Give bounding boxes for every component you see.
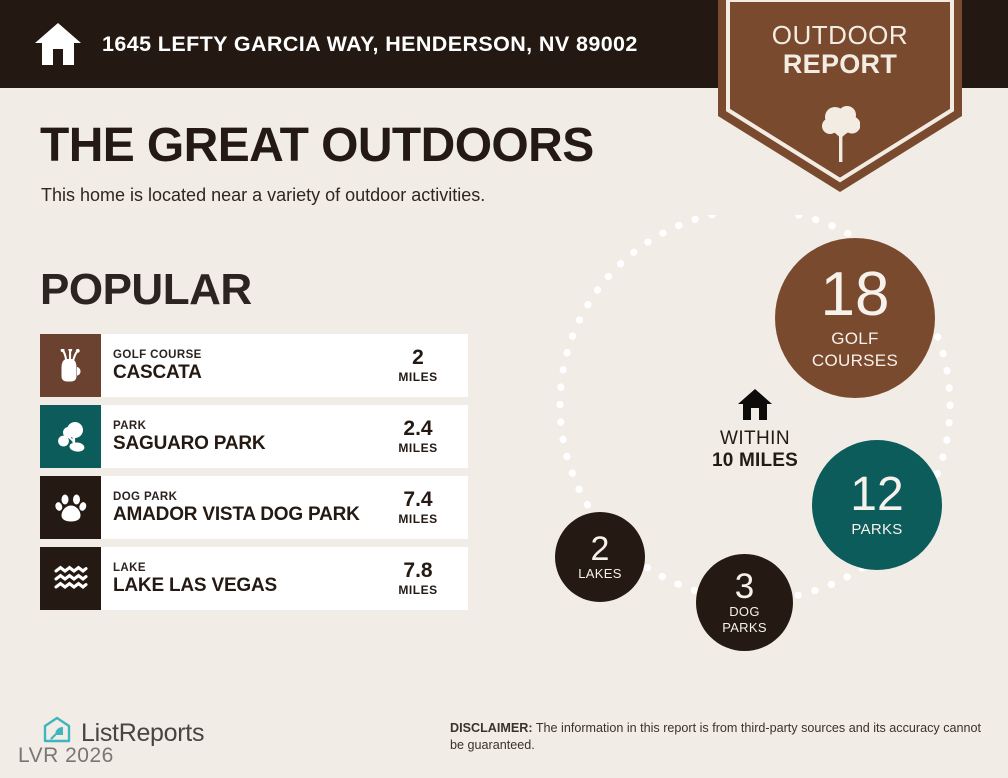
- distance-value: 2: [412, 347, 424, 369]
- list-item-distance: 2.4 MILES: [376, 405, 468, 468]
- bubble-label-line1: GOLF: [831, 330, 879, 348]
- bubble-lakes: 2 LAKES: [555, 512, 645, 602]
- list-item-name: SAGUARO PARK: [113, 433, 376, 454]
- popular-list: GOLF COURSE CASCATA 2 MILES: [40, 334, 468, 618]
- page-title: THE GREAT OUTDOORS: [40, 118, 594, 173]
- diagram-center: WITHIN 10 MILES: [660, 388, 850, 472]
- bubble-label-line2: COURSES: [812, 352, 898, 370]
- waves-icon: [40, 547, 101, 610]
- list-item-category: GOLF COURSE: [113, 348, 376, 362]
- distance-unit: MILES: [398, 583, 437, 597]
- outdoor-report-badge: OUTDOOR REPORT: [718, 0, 962, 192]
- disclaimer-label: DISCLAIMER:: [450, 721, 533, 735]
- distance-unit: MILES: [398, 370, 437, 384]
- bubble-count: 3: [735, 570, 754, 603]
- watermark: LVR 2026: [18, 744, 114, 768]
- home-icon: [660, 388, 850, 422]
- list-item-category: DOG PARK: [113, 490, 376, 504]
- distance-value: 7.4: [403, 489, 432, 511]
- outdoor-report-page: 1645 LEFTY GARCIA WAY, HENDERSON, NV 890…: [0, 0, 1008, 778]
- list-item[interactable]: GOLF COURSE CASCATA 2 MILES: [40, 334, 468, 397]
- list-item-distance: 7.4 MILES: [376, 476, 468, 539]
- list-item-text: GOLF COURSE CASCATA: [101, 334, 376, 397]
- bubble-label-line1: DOG: [729, 605, 760, 619]
- trees-icon: [40, 405, 101, 468]
- list-item-text: PARK SAGUARO PARK: [101, 405, 376, 468]
- bubble-count: 12: [850, 472, 903, 518]
- distance-unit: MILES: [398, 512, 437, 526]
- distance-value: 2.4: [403, 418, 432, 440]
- bubble-label: PARKS: [851, 522, 902, 538]
- list-item-text: DOG PARK AMADOR VISTA DOG PARK: [101, 476, 376, 539]
- center-label-line1: WITHIN: [660, 428, 850, 450]
- disclaimer: DISCLAIMER: The information in this repo…: [450, 720, 995, 753]
- tree-icon: [822, 102, 860, 164]
- list-item-distance: 2 MILES: [376, 334, 468, 397]
- section-title-popular: POPULAR: [40, 265, 252, 315]
- distance-value: 7.8: [403, 560, 432, 582]
- list-item[interactable]: DOG PARK AMADOR VISTA DOG PARK 7.4 MILES: [40, 476, 468, 539]
- bubble-count: 18: [821, 266, 890, 325]
- paw-icon: [40, 476, 101, 539]
- center-label-line2: 10 MILES: [660, 450, 850, 472]
- bubble-dog-parks: 3 DOG PARKS: [696, 554, 793, 651]
- list-item-name: LAKE LAS VEGAS: [113, 575, 376, 596]
- within-10-miles-diagram: 18 GOLF COURSES 12 PARKS 2 LAKES 3 DOG P…: [505, 215, 1005, 685]
- golf-bag-icon: [40, 334, 101, 397]
- home-icon: [34, 21, 82, 67]
- bubble-label-line2: PARKS: [722, 621, 767, 635]
- list-item[interactable]: PARK SAGUARO PARK 2.4 MILES: [40, 405, 468, 468]
- bubble-golf-courses: 18 GOLF COURSES: [775, 238, 935, 398]
- list-item-category: PARK: [113, 419, 376, 433]
- property-address: 1645 LEFTY GARCIA WAY, HENDERSON, NV 890…: [102, 32, 638, 57]
- list-item-distance: 7.8 MILES: [376, 547, 468, 610]
- list-item[interactable]: LAKE LAKE LAS VEGAS 7.8 MILES: [40, 547, 468, 610]
- bubble-label: LAKES: [578, 567, 621, 581]
- bubble-count: 2: [591, 533, 610, 565]
- list-item-category: LAKE: [113, 561, 376, 575]
- list-item-name: AMADOR VISTA DOG PARK: [113, 504, 376, 525]
- list-item-text: LAKE LAKE LAS VEGAS: [101, 547, 376, 610]
- list-item-name: CASCATA: [113, 362, 376, 383]
- distance-unit: MILES: [398, 441, 437, 455]
- page-subtitle: This home is located near a variety of o…: [41, 185, 485, 206]
